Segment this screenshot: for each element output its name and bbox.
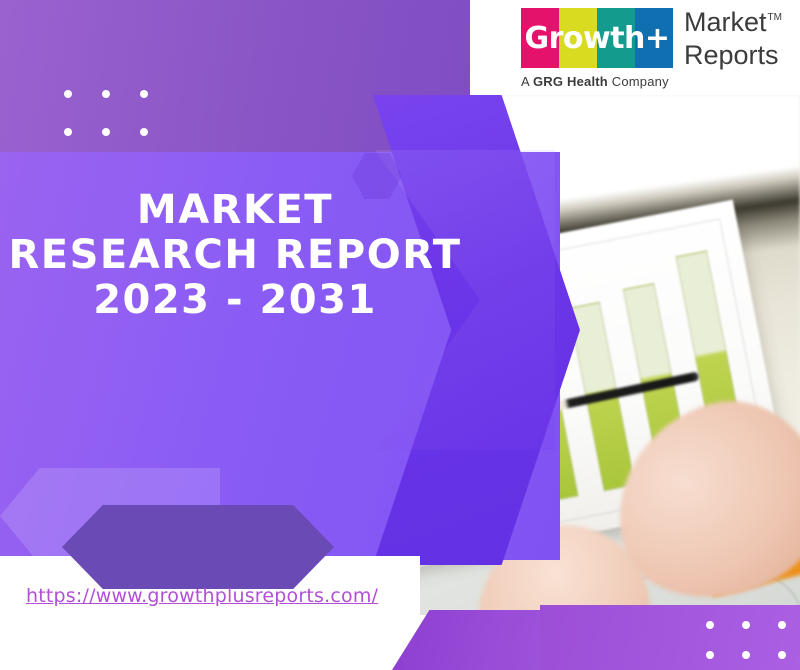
dot [140, 90, 148, 98]
logo-colorblock-mark: Growth+ [521, 8, 673, 68]
dot [778, 651, 786, 659]
logo-market-text: Market [684, 8, 767, 37]
report-cover: MARKET RESEARCH REPORT 2023 - 2031 https… [0, 0, 800, 670]
dot [778, 621, 786, 629]
dot [64, 128, 72, 136]
dot-grid-top-left [64, 90, 148, 136]
title-line-3: 2023 - 2031 [0, 278, 470, 323]
dot [706, 651, 714, 659]
dot [706, 621, 714, 629]
logo-reports-text: Reports [684, 41, 781, 70]
dot [742, 651, 750, 659]
hexagon-dark-accent [62, 505, 334, 589]
trademark-icon: TM [768, 12, 782, 23]
dot [64, 90, 72, 98]
tagline-prefix: A [521, 74, 533, 89]
tagline-bold: GRG Health [533, 74, 608, 89]
logo-tagline: A GRG Health Company [521, 74, 781, 89]
logo-brand-line-1: MarketTM [684, 8, 781, 41]
dot [140, 128, 148, 136]
dot [102, 128, 110, 136]
logo-brand-text: MarketTM Reports [684, 8, 781, 70]
tagline-suffix: Company [608, 74, 669, 89]
title-line-1: MARKET [0, 188, 470, 233]
logo-wordmark: Growth+ [521, 8, 673, 68]
title-line-2: RESEARCH REPORT [0, 233, 470, 278]
dot [742, 621, 750, 629]
dot-grid-bottom-right [706, 621, 786, 659]
dot [102, 90, 110, 98]
brand-logo[interactable]: Growth+ MarketTM Reports A GRG Health Co… [521, 8, 781, 89]
page-title: MARKET RESEARCH REPORT 2023 - 2031 [0, 188, 470, 323]
website-url-link[interactable]: https://www.growthplusreports.com/ [26, 585, 378, 607]
logo-row: Growth+ MarketTM Reports [521, 8, 781, 70]
